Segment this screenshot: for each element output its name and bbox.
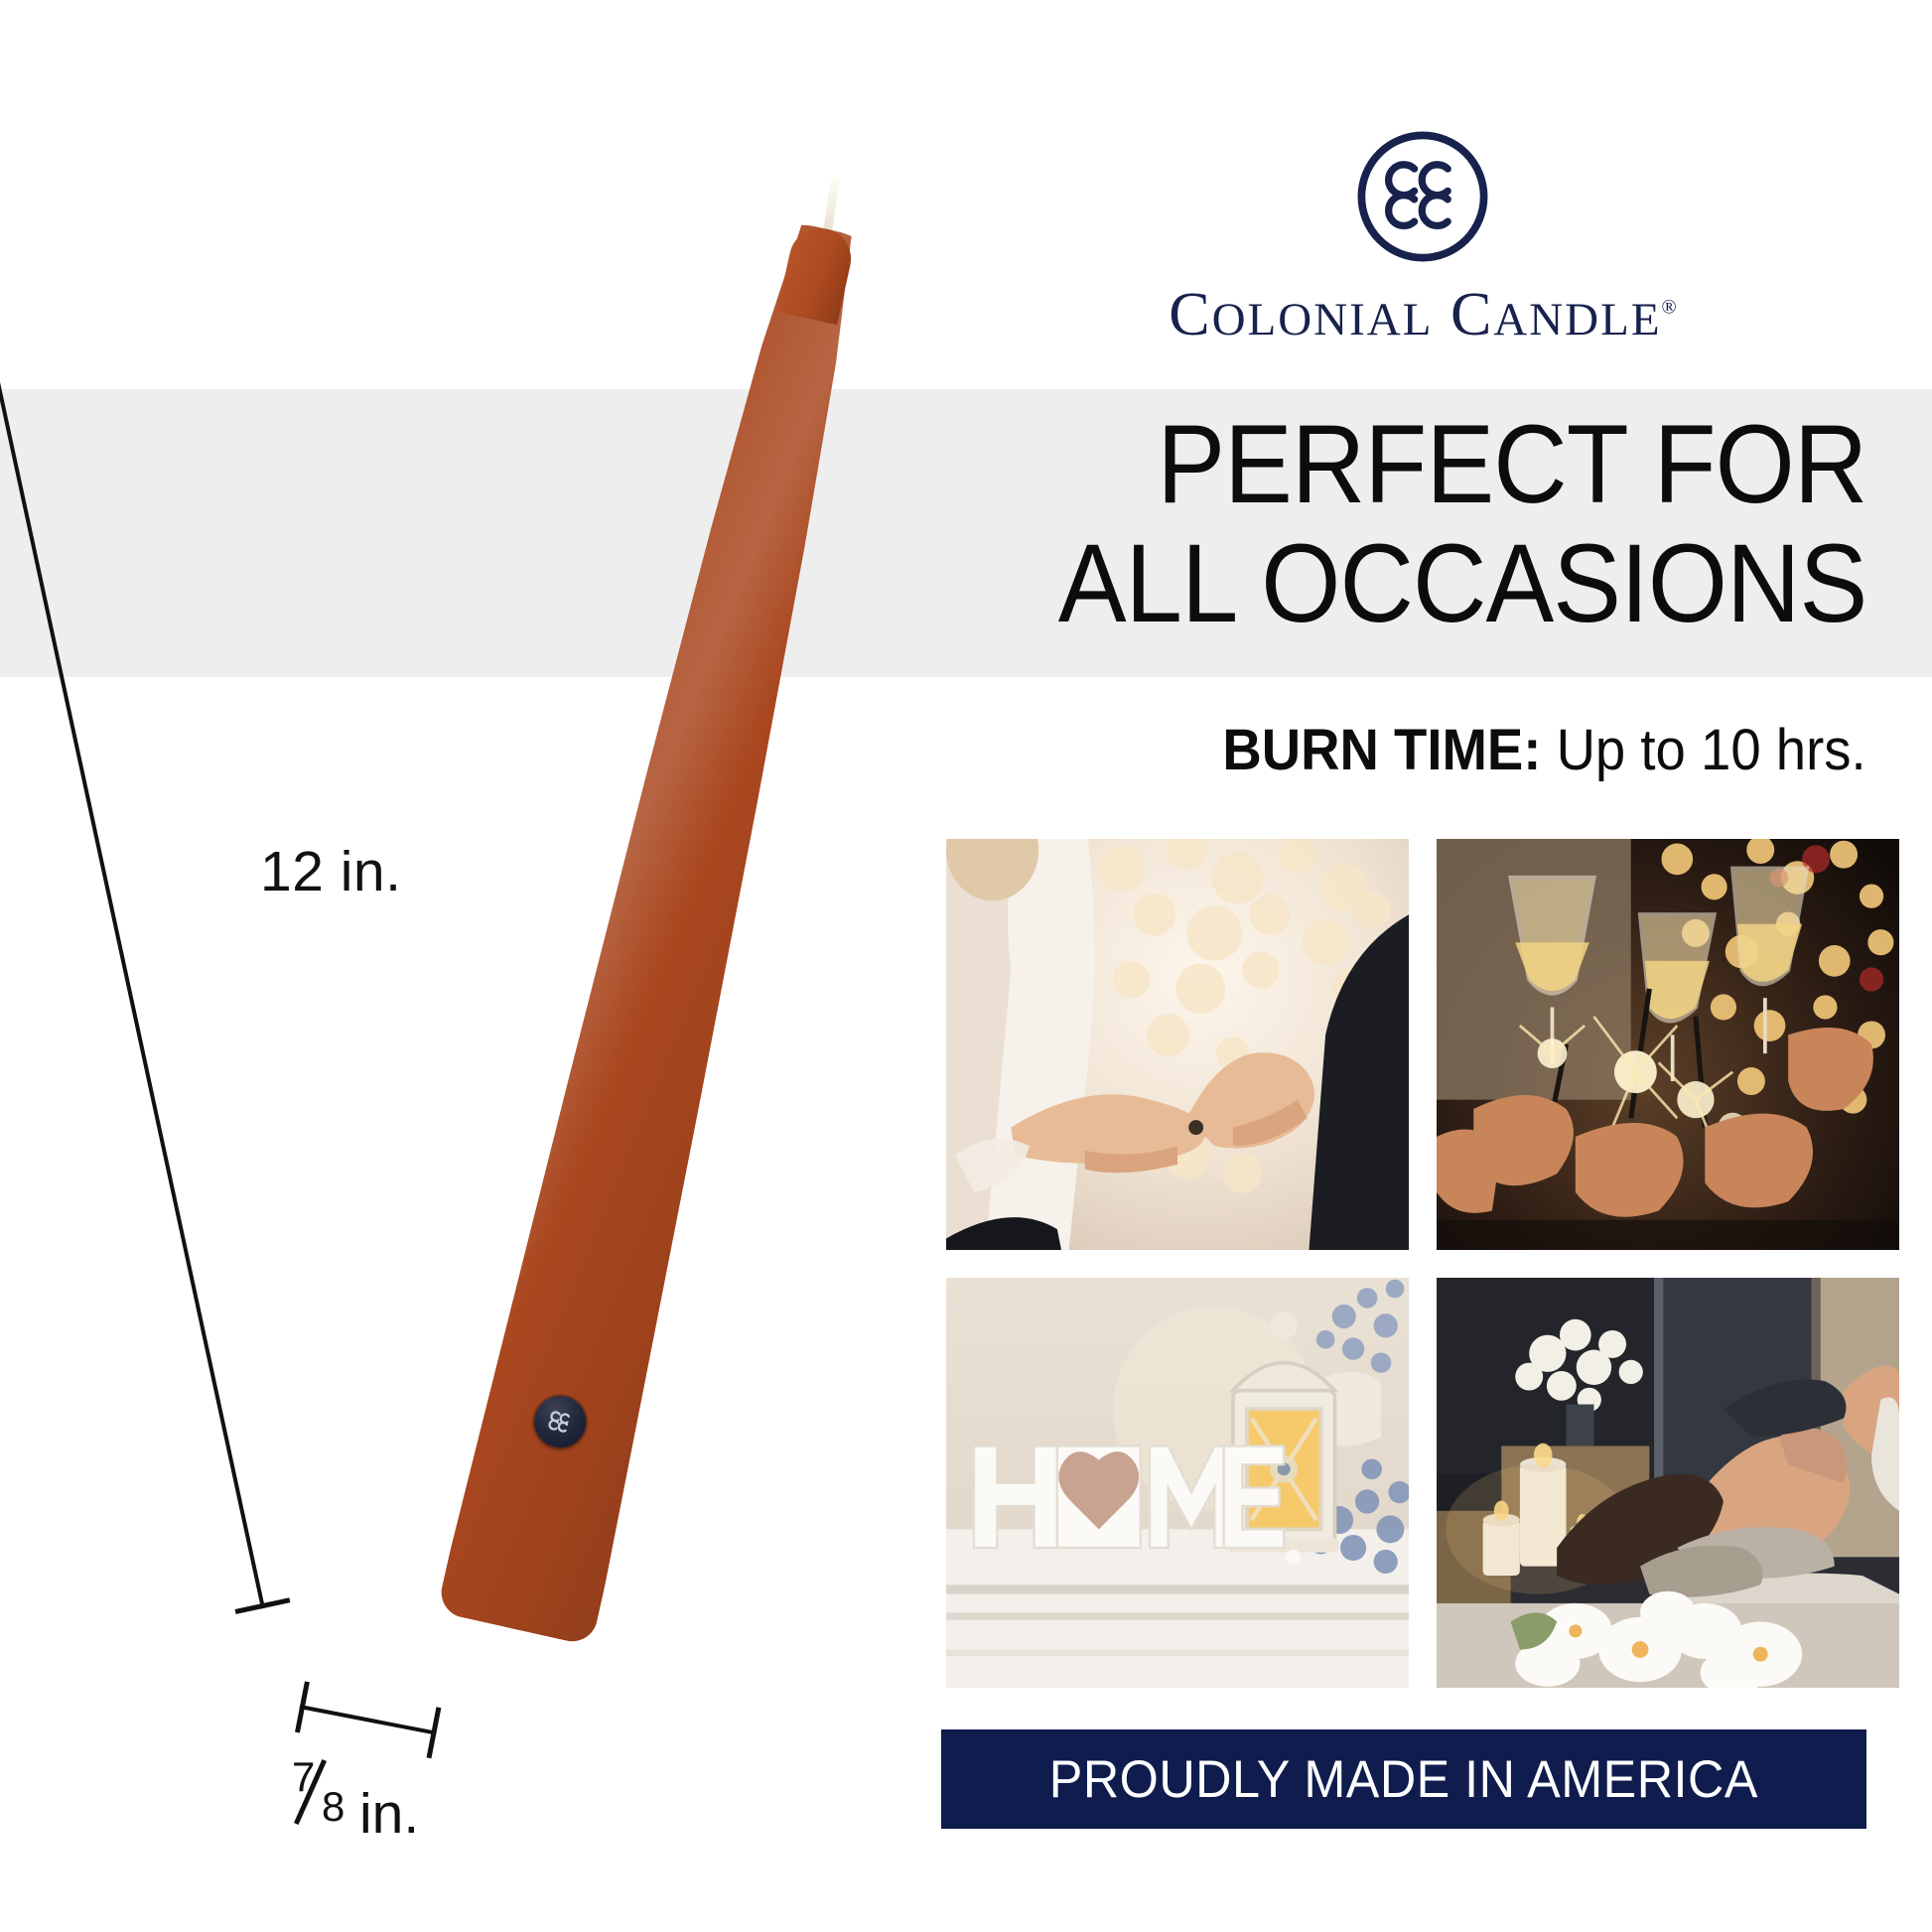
headline-line-1: PERFECT FOR xyxy=(1057,405,1866,524)
brand-wordmark: COLONIAL CANDLE® xyxy=(913,284,1932,345)
burn-time-label: BURN TIME: xyxy=(1223,718,1542,782)
colonial-candle-cc-monogram-icon xyxy=(1353,127,1492,266)
made-in-america-text: PROUDLY MADE IN AMERICA xyxy=(1049,1749,1758,1810)
registered-trademark-icon: ® xyxy=(1662,296,1677,318)
height-dimension-label: 12 in. xyxy=(260,839,401,904)
brand-logo: COLONIAL CANDLE® xyxy=(913,127,1932,345)
wordmark-colonial: OLONIAL xyxy=(1212,294,1434,345)
height-dimension-line xyxy=(0,199,266,1608)
product-image-panel: 12 in. 7 8 in. xyxy=(0,0,913,1932)
wordmark-c2: C xyxy=(1450,281,1493,348)
fraction-seven-eighths: 7 8 xyxy=(292,1769,353,1833)
made-in-america-banner: PROUDLY MADE IN AMERICA xyxy=(941,1729,1866,1829)
photo-spa-relaxation xyxy=(1437,1278,1899,1689)
candle-body xyxy=(437,211,904,1646)
photo-wedding-rings xyxy=(946,839,1409,1250)
headline-line-2: ALL OCCASIONS xyxy=(1057,524,1866,643)
burn-time-spec: BURN TIME: Up to 10 hrs. xyxy=(1223,717,1866,783)
fraction-denominator: 8 xyxy=(322,1783,345,1831)
wordmark-candle: ANDLE xyxy=(1493,294,1661,345)
width-unit-label: in. xyxy=(359,1781,419,1847)
photo-celebration-sparklers xyxy=(1437,839,1899,1250)
burn-time-value: Up to 10 hrs. xyxy=(1557,718,1866,782)
photo-home-decor xyxy=(946,1278,1409,1689)
width-dimension-label: 7 8 in. xyxy=(292,1769,419,1847)
wordmark-c1: C xyxy=(1169,281,1211,348)
dimension-stem xyxy=(300,1705,437,1735)
width-dimension-line xyxy=(299,1704,437,1736)
dimension-stem xyxy=(0,199,265,1608)
page-headline: PERFECT FOR ALL OCCASIONS xyxy=(988,405,1866,643)
marketing-info-panel: COLONIAL CANDLE® PERFECT FOR ALL OCCASIO… xyxy=(913,0,1932,1932)
lifestyle-photo-grid xyxy=(946,839,1899,1688)
